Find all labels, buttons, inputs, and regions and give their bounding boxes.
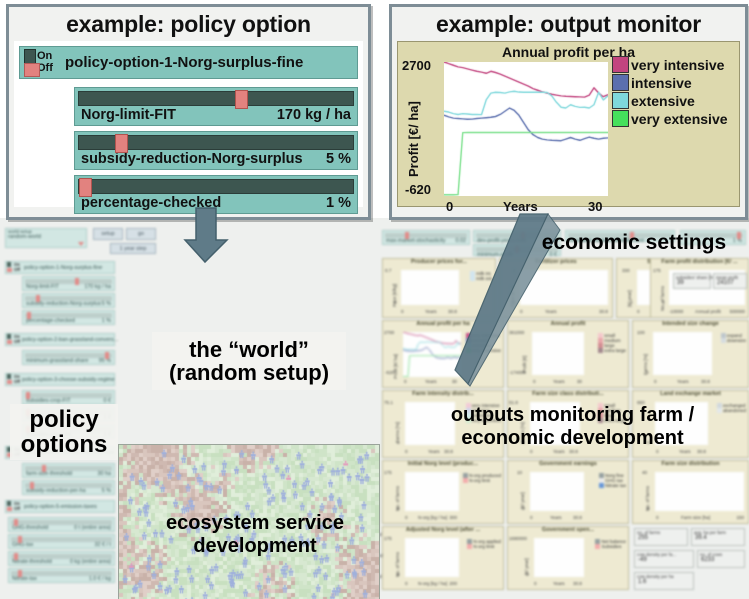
slider-minimum-grassland-share[interactable]: minimum-grassland-share 95 % <box>22 350 115 365</box>
switch-onoff-labels: OnOff <box>14 502 22 511</box>
plot-xmax: 30.8 <box>573 515 582 520</box>
plot-xmax: 30 <box>577 379 582 384</box>
monitor-value: 39.4 <box>692 535 744 541</box>
monitor-value: 39 <box>674 280 710 286</box>
plot-legend: N-org produced N-org limit <box>463 473 501 483</box>
plot-ylabel: Profit [€/ ha] <box>393 354 398 379</box>
switch-knob <box>7 262 14 273</box>
slider-value: 170 kg / ha <box>84 284 111 290</box>
ecosystem-line2: development <box>136 535 374 558</box>
plot-government-earnings: Government earnings [€/ year] 10 0 0 Yea… <box>507 460 629 524</box>
slider-ghg-threshold[interactable]: GHG-threshold 0 t (entire area) <box>8 517 115 532</box>
plot-ymin: 0 <box>662 300 665 305</box>
slider-track[interactable] <box>25 393 112 398</box>
slider-value: 32 € / t <box>95 542 111 548</box>
slider-track[interactable] <box>78 135 354 150</box>
slider-percentage-checked[interactable]: percentage-checked 1 % <box>74 175 358 214</box>
legend-label: very intensive <box>631 57 724 73</box>
chart-xlabel: Years <box>503 199 538 214</box>
plot-ymax: 75.1 <box>384 400 393 405</box>
slider-track[interactable] <box>25 279 112 284</box>
plot-title: Farm intensity distrib... <box>383 391 503 398</box>
plot-ymax: 1680000 <box>509 536 527 541</box>
slider-subsidy-reduction-per-ha[interactable]: subsidy-reduction-per-ha 5 % <box>22 480 115 495</box>
plot-ymin: 0 <box>630 300 633 305</box>
plot-title: Government earnings <box>508 461 628 468</box>
plot-legend: N-org applied N-org limit <box>467 539 501 549</box>
economic-settings-annotation: economic settings <box>520 232 748 254</box>
switch-policy-option-5[interactable]: OnOff policy-option-5-emission-taxes <box>5 500 115 513</box>
plot-title: Land exchange market <box>633 391 748 398</box>
plot-ymin: 0 <box>397 506 400 511</box>
slider-value: 0 kg (entire area) <box>70 559 111 565</box>
plot-xmax: 30 <box>452 379 457 384</box>
plot-xmax: 30.8 <box>448 309 457 314</box>
monitor-no-of-farms: no. of farms 255 <box>634 528 688 546</box>
plot-xmax: 500000 <box>730 309 745 314</box>
switch-knob <box>7 374 14 385</box>
monitor-value: 24107 <box>714 280 746 286</box>
slider-label: Norg-limit-FIT <box>81 107 176 123</box>
chevron-down-icon <box>78 242 84 246</box>
plot-title: Initial Norg level (produc... <box>383 461 503 468</box>
plot-title: Farm profit distribution [€/ ... <box>651 259 748 266</box>
slider-track[interactable] <box>11 571 112 576</box>
legend-label: intensive <box>631 75 692 91</box>
monitor-value: -49 <box>635 557 693 563</box>
slider-track[interactable] <box>25 483 112 488</box>
slider-ghg-tax[interactable]: GHG-tax 32 € / t <box>8 534 115 549</box>
switch-onoff-labels: OnOff <box>14 375 20 384</box>
legend-item: very intensive <box>612 56 728 73</box>
slider-track[interactable] <box>11 520 112 525</box>
slider-label: subsidy-reduction-per-ha <box>26 488 86 494</box>
slider-track[interactable] <box>385 233 467 238</box>
plot-xmax: 30.8 <box>573 581 582 586</box>
switch-label: policy-option-5-emission-taxes <box>24 504 97 510</box>
slider-track[interactable] <box>25 466 112 471</box>
example-policy-option-panel: example: policy option On Off policy-opt… <box>6 4 371 220</box>
switch-knob[interactable] <box>23 48 43 77</box>
plot-government-spending: Government spen... [€/ year] 1680000 0 0… <box>507 526 629 590</box>
world-annotation-line1: the “world” <box>152 338 346 361</box>
plot-ymax: 175 <box>384 470 392 475</box>
plot-ymax: 10 <box>517 470 522 475</box>
legend-swatch-very-intensive <box>612 56 629 73</box>
legend-swatch-very-extensive <box>612 110 629 127</box>
plot-xlabel: Annual profit <box>695 309 721 314</box>
plot-intended-size-change: Intended size change Farms [%] 100 0 0 Y… <box>632 320 749 388</box>
plot-xmin: 0 <box>637 309 640 314</box>
outputs-line2: economic development <box>400 427 745 450</box>
switch-label: policy-option-3-choose-subsidy-regime <box>22 377 115 383</box>
plot-ymin: 0 <box>526 572 529 577</box>
plot-xlabel: N-org [kg / ha] <box>418 581 447 586</box>
plot-xmax: 30.8 <box>701 379 710 384</box>
slider-label: farm-size-threshold <box>26 471 72 477</box>
plot-xmin: 0 <box>654 379 657 384</box>
slider-subsidy-reduction-norg-surplus[interactable]: subsidy-reduction-Norg-surplus 5 % <box>74 131 358 170</box>
annual-profit-per-ha-plot: Annual profit per ha Profit [€/ ha] 2700… <box>397 41 740 207</box>
plot-legend: expand downsize <box>721 333 746 343</box>
plot-title: Producer prices for... <box>383 259 495 266</box>
monitor-panel-title: example: output monitor <box>392 7 745 41</box>
outputs-line1: outputs monitoring farm / <box>400 404 745 427</box>
slider-nitrate-threshold[interactable]: Nitrate-threshold 0 kg (entire area) <box>8 551 115 566</box>
plot-ymax: 0.7 <box>385 268 391 273</box>
plot-ymax: 175 <box>653 268 661 273</box>
example-output-monitor-panel: example: output monitor Annual profit pe… <box>389 4 748 220</box>
plot-ymin: 0 <box>646 370 649 375</box>
slider-track[interactable] <box>25 296 112 301</box>
chooser-value: random-world <box>6 234 86 240</box>
plot-xmin: -10000 <box>669 309 683 314</box>
plot-farm-size-distribution: Farm size distribution No. of farms 40 0… <box>632 460 749 524</box>
world-annotation-line2: (random setup) <box>152 361 346 384</box>
setup-button-label: setup <box>101 231 114 237</box>
plot-title: Adjusted Norg level (after ... <box>383 527 503 534</box>
plot-producer-prices: Producer prices for... Price [€/kg] 0.7 … <box>382 258 496 318</box>
slider-value: 0.02 <box>456 238 467 244</box>
outputs-annotation: outputs monitoring farm / economic devel… <box>400 404 745 450</box>
switch-name: policy-option-1-Norg-surplus-fine <box>65 54 303 71</box>
world-annotation: the “world” (random setup) <box>152 332 346 390</box>
monitor-cow-density-per-ha: cow density per ha 1.6 <box>634 572 694 590</box>
plot-xmin: 0 <box>404 379 407 384</box>
legend-label: very extensive <box>631 111 728 127</box>
switch-policy-option-3[interactable]: OnOff policy-option-3-choose-subsidy-reg… <box>5 373 115 386</box>
slider-track[interactable] <box>25 353 112 358</box>
plot-ymax: 361000 <box>509 330 524 335</box>
slider-track[interactable] <box>11 554 112 559</box>
policy-option-1-switch[interactable]: On Off policy-option-1-Norg-surplus-fine <box>19 46 358 79</box>
setup-button[interactable]: setup <box>93 228 123 240</box>
monitor-avg-ha-per-farm: avg. ha per farm 39.4 <box>691 528 745 546</box>
legend-item: very extensive <box>612 110 728 127</box>
slider-value: 5 % <box>326 151 351 167</box>
switch-label: policy-option-1-Norg-surplus-fine <box>24 265 102 271</box>
slider-value: 30 ha <box>98 471 112 477</box>
legend-item: extensive <box>612 92 728 109</box>
switch-knob <box>7 501 14 512</box>
plot-annual-profit-per-ha: Annual profit per ha Profit [€/ ha] 2700… <box>382 320 504 388</box>
switch-policy-option-2[interactable]: OnOff policy-option-2-ban-grassland-conv… <box>5 333 115 346</box>
monitor-panel-body: Annual profit per ha Profit [€/ ha] 2700… <box>397 41 740 207</box>
plot-xlabel: N-org [kg / ha] <box>418 515 447 520</box>
plot-ymin: 0 <box>394 300 397 305</box>
policy-options-line2: options <box>10 432 118 457</box>
plot-ymin: 0 <box>647 506 650 511</box>
slider-label: minimum-grassland-share <box>26 358 88 364</box>
switch-onoff-labels: OnOff <box>14 263 22 272</box>
slider-track[interactable] <box>78 179 354 194</box>
plot-ymax: 175 <box>384 536 392 541</box>
switch-onoff-labels: OnOff <box>14 335 20 344</box>
plot-legend: Norg fine GHG tax Nitrate tax <box>599 473 626 488</box>
monitor-mean-profit: mean profit 24107 <box>713 273 747 289</box>
monitor-value: 6233 <box>698 557 744 563</box>
legend-swatch-extensive <box>612 92 629 109</box>
policy-options-annotation: policy options <box>10 404 118 460</box>
slider-value: 0 t (entire area) <box>74 525 111 531</box>
plot-xmin: 0 <box>533 379 536 384</box>
plot-xlabel: Years <box>545 309 557 314</box>
plot-xmin: 0 <box>530 515 533 520</box>
plot-title: Fertilizer prices <box>500 259 612 266</box>
year-step-label: 1 year step <box>120 246 147 252</box>
chart-legend: very intensive intensive extensive very … <box>612 56 728 128</box>
plot-initial-norg-level: Initial Norg level (produc... No. of far… <box>382 460 504 524</box>
chart-xtick-max: 30 <box>588 199 602 214</box>
legend-label: extensive <box>631 93 695 109</box>
slider-farm-size-threshold[interactable]: farm-size-threshold 30 ha <box>22 463 115 478</box>
go-button-label: go <box>138 231 144 237</box>
slider-value: 5 % <box>102 301 111 307</box>
economic-settings-text: economic settings <box>542 231 726 254</box>
slider-norg-limit-fit[interactable]: Norg-limit-FIT 170 kg / ha <box>74 87 358 126</box>
plot-xmax: 200 <box>449 581 457 586</box>
monitor-value: 1.6 <box>635 579 693 585</box>
monitor-cow-density-per-farm: cow density per fa... -49 <box>634 550 694 568</box>
slider-value: 170 kg / ha <box>277 107 351 123</box>
plot-xlabel: Years <box>550 515 562 520</box>
plot-xmax: 300 <box>449 515 457 520</box>
plot-xlabel: Years <box>425 309 437 314</box>
world-setup-chooser[interactable]: world-setup random-world <box>5 228 87 248</box>
plot-xmin: 0 <box>405 581 408 586</box>
slider-subsidy-reduction-norg-surplus[interactable]: subsidy-reduction-Norg-surplus 5 % <box>22 293 115 308</box>
plot-ymax: 1 <box>513 268 516 273</box>
plot-annual-profit: Annual profit Profit [€] 361000 -174000 … <box>507 320 629 388</box>
plot-xmin: 0 <box>401 309 404 314</box>
slider-value: 1 % <box>326 195 351 211</box>
plot-farm-profit-distribution: Farm profit distribution [€/ ... No. of … <box>650 258 749 318</box>
plot-legend: very intensive intensive extensive very … <box>466 333 501 353</box>
slider-percentage-checked[interactable]: percentage-checked 1 % <box>22 310 115 325</box>
plot-title: Farm size distribution <box>633 461 748 468</box>
legend-item: intensive <box>612 74 728 91</box>
plot-xmin: 0 <box>405 515 408 520</box>
slider-track[interactable] <box>11 537 112 542</box>
plot-ymin: -620 <box>385 370 394 375</box>
slider-value: 1 % <box>102 318 111 324</box>
slider-label: percentage-checked <box>81 195 221 211</box>
plot-title: Annual profit <box>508 321 628 328</box>
plot-fertilizer-prices: Fertilizer prices Price [€...] 1 0 0 Yea… <box>499 258 613 318</box>
slider-label: percentage-checked <box>26 318 75 324</box>
plot-adjusted-norg-level: Adjusted Norg level (after ... No. of fa… <box>382 526 504 590</box>
legend-swatch-intensive <box>612 74 629 91</box>
chart-ytick-min: -620 <box>405 182 431 197</box>
plot-ymax: 330 <box>622 268 630 273</box>
plot-xmin: 0 <box>534 581 537 586</box>
plot-xlabel: Farm size [ha] <box>681 515 710 520</box>
chart-ylabel: Profit [€/ ha] <box>406 101 421 177</box>
monitor-value: 255 <box>635 535 687 541</box>
year-step-button[interactable]: 1 year step <box>110 243 156 254</box>
policy-panel-body: On Off policy-option-1-Norg-surplus-fine… <box>14 41 363 207</box>
plot-ymax: 100 <box>637 330 645 335</box>
slider-subsidies-crop-fit[interactable]: subsidies-crop-FIT 0 € <box>22 390 115 405</box>
slider-label: subsidy-reduction-Norg-surplus <box>81 151 303 167</box>
slider-nitrate-tax[interactable]: Nitrate-tax 1.0 € / kg <box>8 568 115 583</box>
go-button[interactable]: go <box>126 228 156 240</box>
slider-label: Nitrate-tax <box>12 576 37 582</box>
plot-ymax: 2700 <box>384 330 394 335</box>
switch-knob <box>7 334 14 345</box>
plot-xlabel: Years <box>553 379 565 384</box>
switch-policy-option-1[interactable]: OnOff policy-option-1-Norg-surplus-fine <box>5 261 115 274</box>
plot-title: Government spen... <box>508 527 628 534</box>
slider-max-market-stochasticity[interactable]: max-market-stochasticity 0.02 <box>382 230 470 245</box>
plot-xmin: 0 <box>656 515 659 520</box>
plot-ymax: 40 <box>642 470 647 475</box>
slider-label: GHG-tax <box>12 542 33 548</box>
plot-xlabel: Years <box>553 581 565 586</box>
monitor-subsidies-share: subsidies' share [%] 39 <box>673 273 711 289</box>
slider-track[interactable] <box>25 313 112 318</box>
plot-legend: Net balance Subsidies <box>595 539 626 549</box>
slider-label: max-market-stochasticity <box>386 238 446 244</box>
chart-xtick-min: 0 <box>446 199 453 214</box>
plot-ymin: 0 <box>522 506 525 511</box>
switch-label: policy-option-2-ban-grassland-convers... <box>22 337 118 343</box>
plot-xmax: 30.8 <box>599 309 608 314</box>
plot-ylabel: No. of farms <box>660 286 665 311</box>
plot-title: Intended size change <box>633 321 748 328</box>
plot-xmax: 150 <box>736 515 744 520</box>
plot-xlabel: Years <box>425 379 437 384</box>
plot-legend: milk int. milk ext. <box>470 271 493 281</box>
ecosystem-line1: ecosystem service <box>136 512 374 535</box>
chart-ytick-max: 2700 <box>402 58 431 73</box>
slider-value: 1.0 € / kg <box>89 576 111 582</box>
plot-ymin: -174000 <box>509 370 526 375</box>
policy-panel-title: example: policy option <box>9 7 368 41</box>
ecosystem-annotation: ecosystem service development <box>136 512 374 558</box>
plot-ymin: 0 <box>513 300 516 305</box>
plot-xlabel: Years <box>677 379 689 384</box>
plot-ymin: 0 <box>397 572 400 577</box>
plot-xmin: 0 <box>520 309 523 314</box>
policy-options-line1: policy <box>10 407 118 432</box>
slider-norg-limit-fit[interactable]: Norg-limit-FIT 170 kg / ha <box>22 276 115 291</box>
slider-value: 5 % <box>102 488 111 494</box>
monitor-no-of-cows: no. of cows 6233 <box>697 550 745 568</box>
slider-track[interactable] <box>78 91 354 106</box>
plot-legend: small medium large extra large <box>598 333 626 353</box>
plot-title: Annual profit per ha <box>383 321 503 328</box>
plot-title: Farm size class distributi... <box>508 391 628 398</box>
slider-label: Norg-limit-FIT <box>26 284 59 290</box>
